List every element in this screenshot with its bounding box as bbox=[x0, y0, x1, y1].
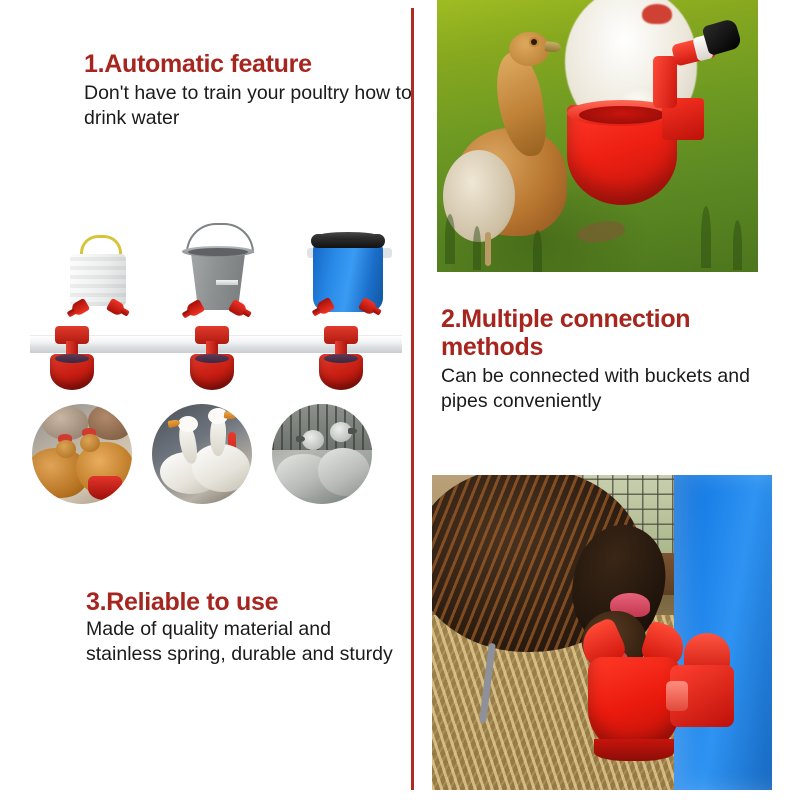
goose-head-1 bbox=[178, 416, 198, 432]
bucket-inner bbox=[188, 248, 248, 256]
grass-blade bbox=[733, 220, 742, 270]
section-automatic-feature: 1.Automatic feature Don't have to train … bbox=[84, 50, 414, 132]
pigeon-beak-1 bbox=[296, 436, 305, 442]
infographic-page: 1.Automatic feature Don't have to train … bbox=[0, 0, 800, 800]
brown-hen-beak bbox=[545, 41, 562, 53]
photo-hen-with-drinker-cup: Brown hen and white chicken on green gra… bbox=[437, 0, 758, 272]
pigeon-beak-2 bbox=[348, 428, 357, 434]
grass-blade bbox=[701, 206, 711, 268]
brown-hen-leg bbox=[485, 232, 491, 266]
chicken-head-2 bbox=[80, 434, 100, 452]
pigeon-head-1 bbox=[302, 430, 324, 450]
photo-hen-drinking-from-barrel: Dark brown hen drinking from a red cup d… bbox=[432, 475, 772, 790]
chicken-drinker-cup bbox=[88, 476, 122, 500]
bucket-label-strip bbox=[216, 280, 238, 285]
cup-water bbox=[195, 354, 229, 363]
pigeon-body-2 bbox=[318, 448, 370, 496]
photo-geese bbox=[152, 404, 252, 504]
barrel-drinker-cup-base bbox=[594, 739, 674, 761]
connection-diagram: Water containers connected to automatic … bbox=[30, 222, 402, 394]
drinker-cup-1 bbox=[44, 326, 100, 394]
drinker-cup-3 bbox=[313, 326, 369, 394]
section-3-body: Made of quality material and stainless s… bbox=[86, 617, 406, 668]
drinker-cup-2 bbox=[184, 326, 240, 394]
diagram-caption: Water containers connected to automatic … bbox=[30, 222, 31, 223]
grass-blade bbox=[473, 226, 481, 270]
section-reliable-to-use: 3.Reliable to use Made of quality materi… bbox=[86, 588, 406, 668]
brown-hen-head bbox=[509, 32, 549, 66]
photo-chickens bbox=[32, 404, 132, 504]
photo-bottom-alt: Dark brown hen drinking from a red cup d… bbox=[432, 475, 433, 476]
drinker-black-clip bbox=[702, 18, 743, 56]
section-2-body: Can be connected with buckets and pipes … bbox=[441, 364, 771, 415]
grass-blade bbox=[533, 230, 542, 272]
cup-water bbox=[55, 354, 89, 363]
white-jug bbox=[70, 254, 126, 306]
brown-hen-eye bbox=[531, 39, 537, 45]
cup-water bbox=[324, 354, 358, 363]
section-1-heading: 1.Automatic feature bbox=[84, 50, 414, 78]
photo-top-alt: Brown hen and white chicken on green gra… bbox=[437, 0, 438, 1]
dry-leaf bbox=[575, 217, 626, 247]
blue-barrel-photo bbox=[674, 475, 772, 790]
section-multiple-connection-methods: 2.Multiple connection methods Can be con… bbox=[441, 305, 771, 415]
grass-blade bbox=[445, 214, 455, 264]
drinker-cup-stem bbox=[653, 56, 677, 108]
chicken-head-1 bbox=[56, 440, 76, 458]
white-chicken-comb bbox=[642, 4, 672, 24]
photo-pigeons bbox=[272, 404, 372, 504]
section-1-body: Don't have to train your poultry how to … bbox=[84, 81, 414, 132]
barrel-nipple-ring bbox=[666, 681, 688, 711]
goose-beak-2 bbox=[224, 411, 237, 420]
section-2-heading: 2.Multiple connection methods bbox=[441, 305, 771, 361]
drinker-cup-inner bbox=[579, 106, 665, 124]
barrel-lid-top bbox=[318, 232, 378, 240]
section-3-heading: 3.Reliable to use bbox=[86, 588, 406, 616]
